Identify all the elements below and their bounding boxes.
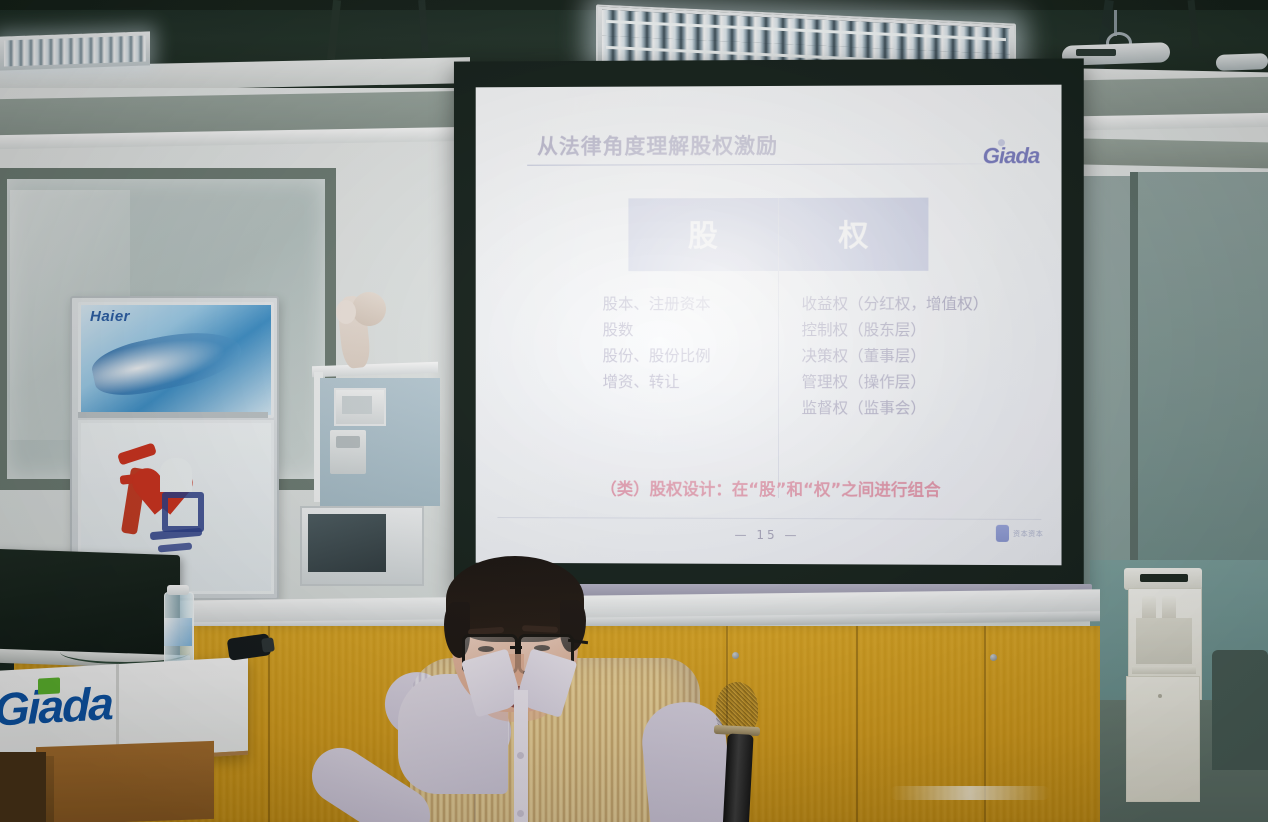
- water-tap-cold[interactable]: [1162, 596, 1176, 618]
- water-tap-hot[interactable]: [1142, 596, 1156, 618]
- corner-logo-text: 资本资本: [1013, 529, 1043, 537]
- podium-wood-base: [36, 741, 214, 822]
- shirt-button: [517, 810, 524, 817]
- cabinet-seam: [856, 626, 858, 822]
- slide-title-rule: [527, 163, 997, 165]
- shirt-button: [517, 752, 524, 759]
- projector-secondary: [1216, 53, 1268, 71]
- chair: [1212, 650, 1268, 770]
- table-header-quan: 权: [778, 198, 928, 271]
- heart-inner: [160, 458, 192, 492]
- presenter: [196, 282, 636, 822]
- list-item: 控制权（股东层）: [801, 317, 1035, 343]
- haier-logo: Haier: [90, 308, 130, 325]
- glasses-bridge: [510, 646, 522, 649]
- list-item: 决策权（董事层）: [801, 343, 1035, 369]
- water-dispenser-cabinet: [1126, 676, 1200, 802]
- logo-green-accent: [38, 677, 60, 694]
- water-dispenser-control-panel[interactable]: [1140, 574, 1188, 582]
- list-item: 监督权（监事会）: [801, 395, 1035, 421]
- podium-shadow: [0, 752, 46, 822]
- indicator-dot: [1158, 694, 1162, 698]
- photograph-scene: 从法律角度理解股权激励 Giada 股 权 股本、注册资本 股数 股份、股份比例…: [0, 0, 1268, 822]
- list-item: 管理权（操作层）: [801, 369, 1035, 395]
- cabinet-knob[interactable]: [732, 652, 739, 659]
- projector-lens-icon: [1076, 49, 1116, 56]
- ceiling-light-fixture: [0, 31, 150, 70]
- water-dispenser-recess: [1136, 618, 1192, 664]
- water-drip-tray: [1132, 666, 1196, 674]
- giada-logo: Giada: [983, 143, 1040, 169]
- cabinet-scuff: [890, 786, 1050, 800]
- bottle-label: [164, 618, 192, 646]
- clicker-tip: [261, 637, 275, 653]
- list-item: 收益权（分红权，增值权）: [801, 291, 1035, 317]
- table-body: 股本、注册资本 股数 股份、股份比例 增资、转让 收益权（分红权，增值权） 控制…: [595, 291, 1036, 422]
- book-mark-icon: [996, 525, 1009, 542]
- bottle-cap[interactable]: [167, 585, 189, 595]
- cabinet-knob[interactable]: [990, 654, 997, 661]
- table-column-quan: 收益权（分红权，增值权） 控制权（股东层） 决策权（董事层） 管理权（操作层） …: [769, 291, 1035, 422]
- slide-corner-logo: 资本资本: [996, 525, 1043, 542]
- table-header-gu: 股: [628, 198, 778, 271]
- slide-title: 从法律角度理解股权激励: [537, 130, 778, 161]
